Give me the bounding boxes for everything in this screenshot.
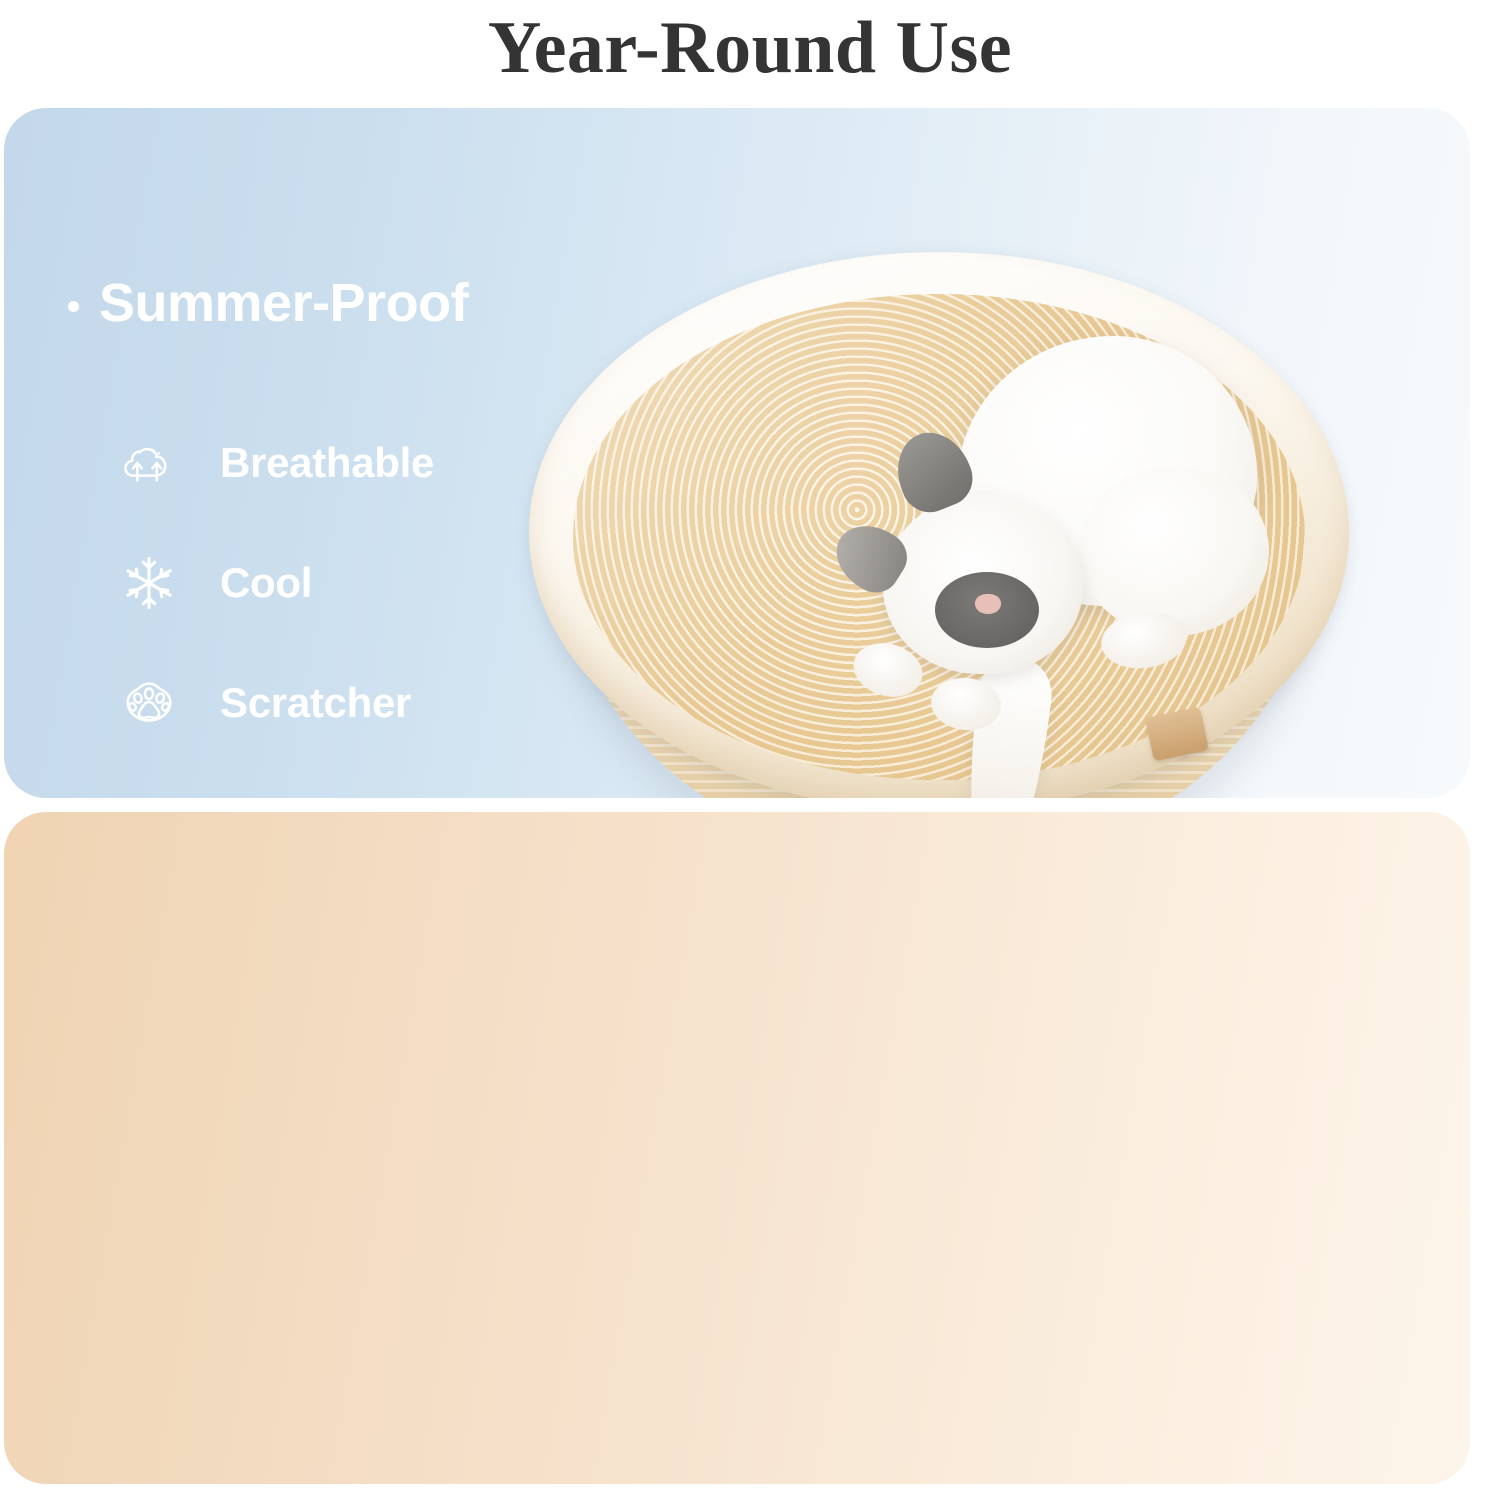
summer-heading-label: Summer-Proof [99, 276, 468, 330]
white-kitten [839, 326, 1259, 796]
snowflake-icon [116, 550, 182, 616]
paw-print-icon [116, 670, 182, 736]
feature-label-breathable: Breathable [220, 442, 434, 484]
summer-feature-list: Breathable Cool [116, 430, 434, 736]
feature-breathable: Breathable [116, 430, 434, 496]
kitten-haunch [1079, 466, 1269, 636]
kitten-nose [975, 594, 1001, 614]
bullet-dot-icon [68, 301, 79, 312]
summer-product-photo [509, 258, 1369, 798]
feature-cool: Cool [116, 550, 434, 616]
winter-panel: Winter-Ready Soft [4, 812, 1470, 1484]
product-feature-page: Year-Round Use [0, 0, 1500, 1495]
feature-label-scratcher: Scratcher [220, 682, 411, 724]
summer-panel: Summer-Proof [4, 108, 1470, 798]
feature-label-cool: Cool [220, 562, 312, 604]
page-title-bar: Year-Round Use [0, 0, 1500, 96]
airflow-cloud-icon [116, 430, 182, 496]
feature-scratcher: Scratcher [116, 670, 434, 736]
summer-heading: Summer-Proof [68, 276, 468, 330]
page-title: Year-Round Use [488, 11, 1012, 85]
